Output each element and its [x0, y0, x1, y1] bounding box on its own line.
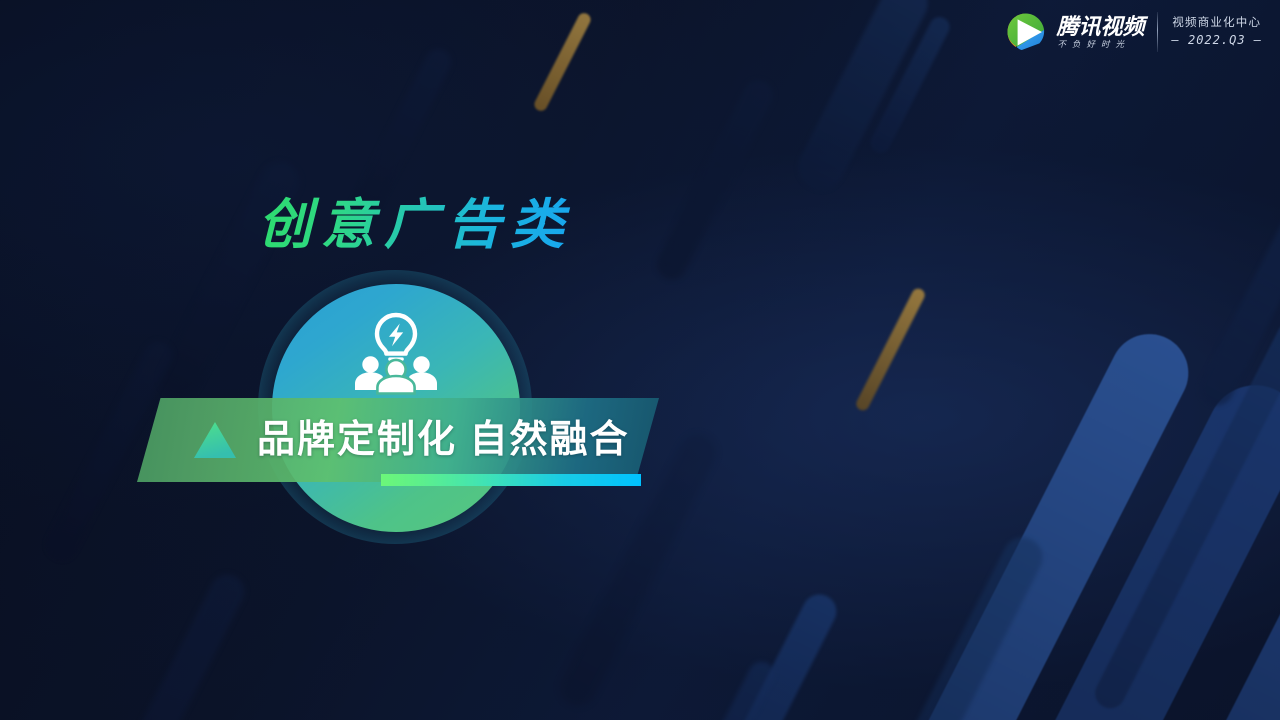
page-title: 创意广告类 [258, 196, 573, 254]
highlight-banner: 品牌定制化 自然融合 [137, 398, 659, 482]
bar-navy-farleft [84, 569, 250, 720]
accent-underline-bar [381, 474, 641, 486]
business-center-label: 视频商业化中心 [1172, 17, 1261, 30]
header-meta: 视频商业化中心 — 2022.Q3 — [1172, 17, 1262, 47]
bar-navy-topmid [652, 75, 779, 285]
tencent-video-play-icon[interactable] [1005, 11, 1047, 53]
header-logo-lockup: 腾讯视频 不负好时光 视频商业化中心 — 2022.Q3 — [1005, 11, 1263, 53]
banner-label: 品牌定制化 自然融合 [257, 419, 630, 461]
slide-root: 腾讯视频 不负好时光 视频商业化中心 — 2022.Q3 — 创意广告类 [0, 0, 1280, 720]
bar-gold-topleft [532, 11, 593, 113]
brand-tagline: 不负好时光 [1057, 39, 1145, 49]
bar-gold-center [854, 286, 927, 412]
quarter-label: — 2022.Q3 — [1172, 34, 1262, 47]
background-pattern [0, 0, 1280, 720]
team-idea-lightbulb-icon [352, 312, 440, 396]
brand-wordmark: 腾讯视频 不负好时光 [1057, 15, 1145, 50]
header-divider [1157, 12, 1158, 52]
triangle-marker-icon [193, 421, 237, 459]
brand-name-cn: 腾讯视频 [1057, 15, 1145, 38]
banner-content: 品牌定制化 自然融合 [137, 398, 659, 482]
